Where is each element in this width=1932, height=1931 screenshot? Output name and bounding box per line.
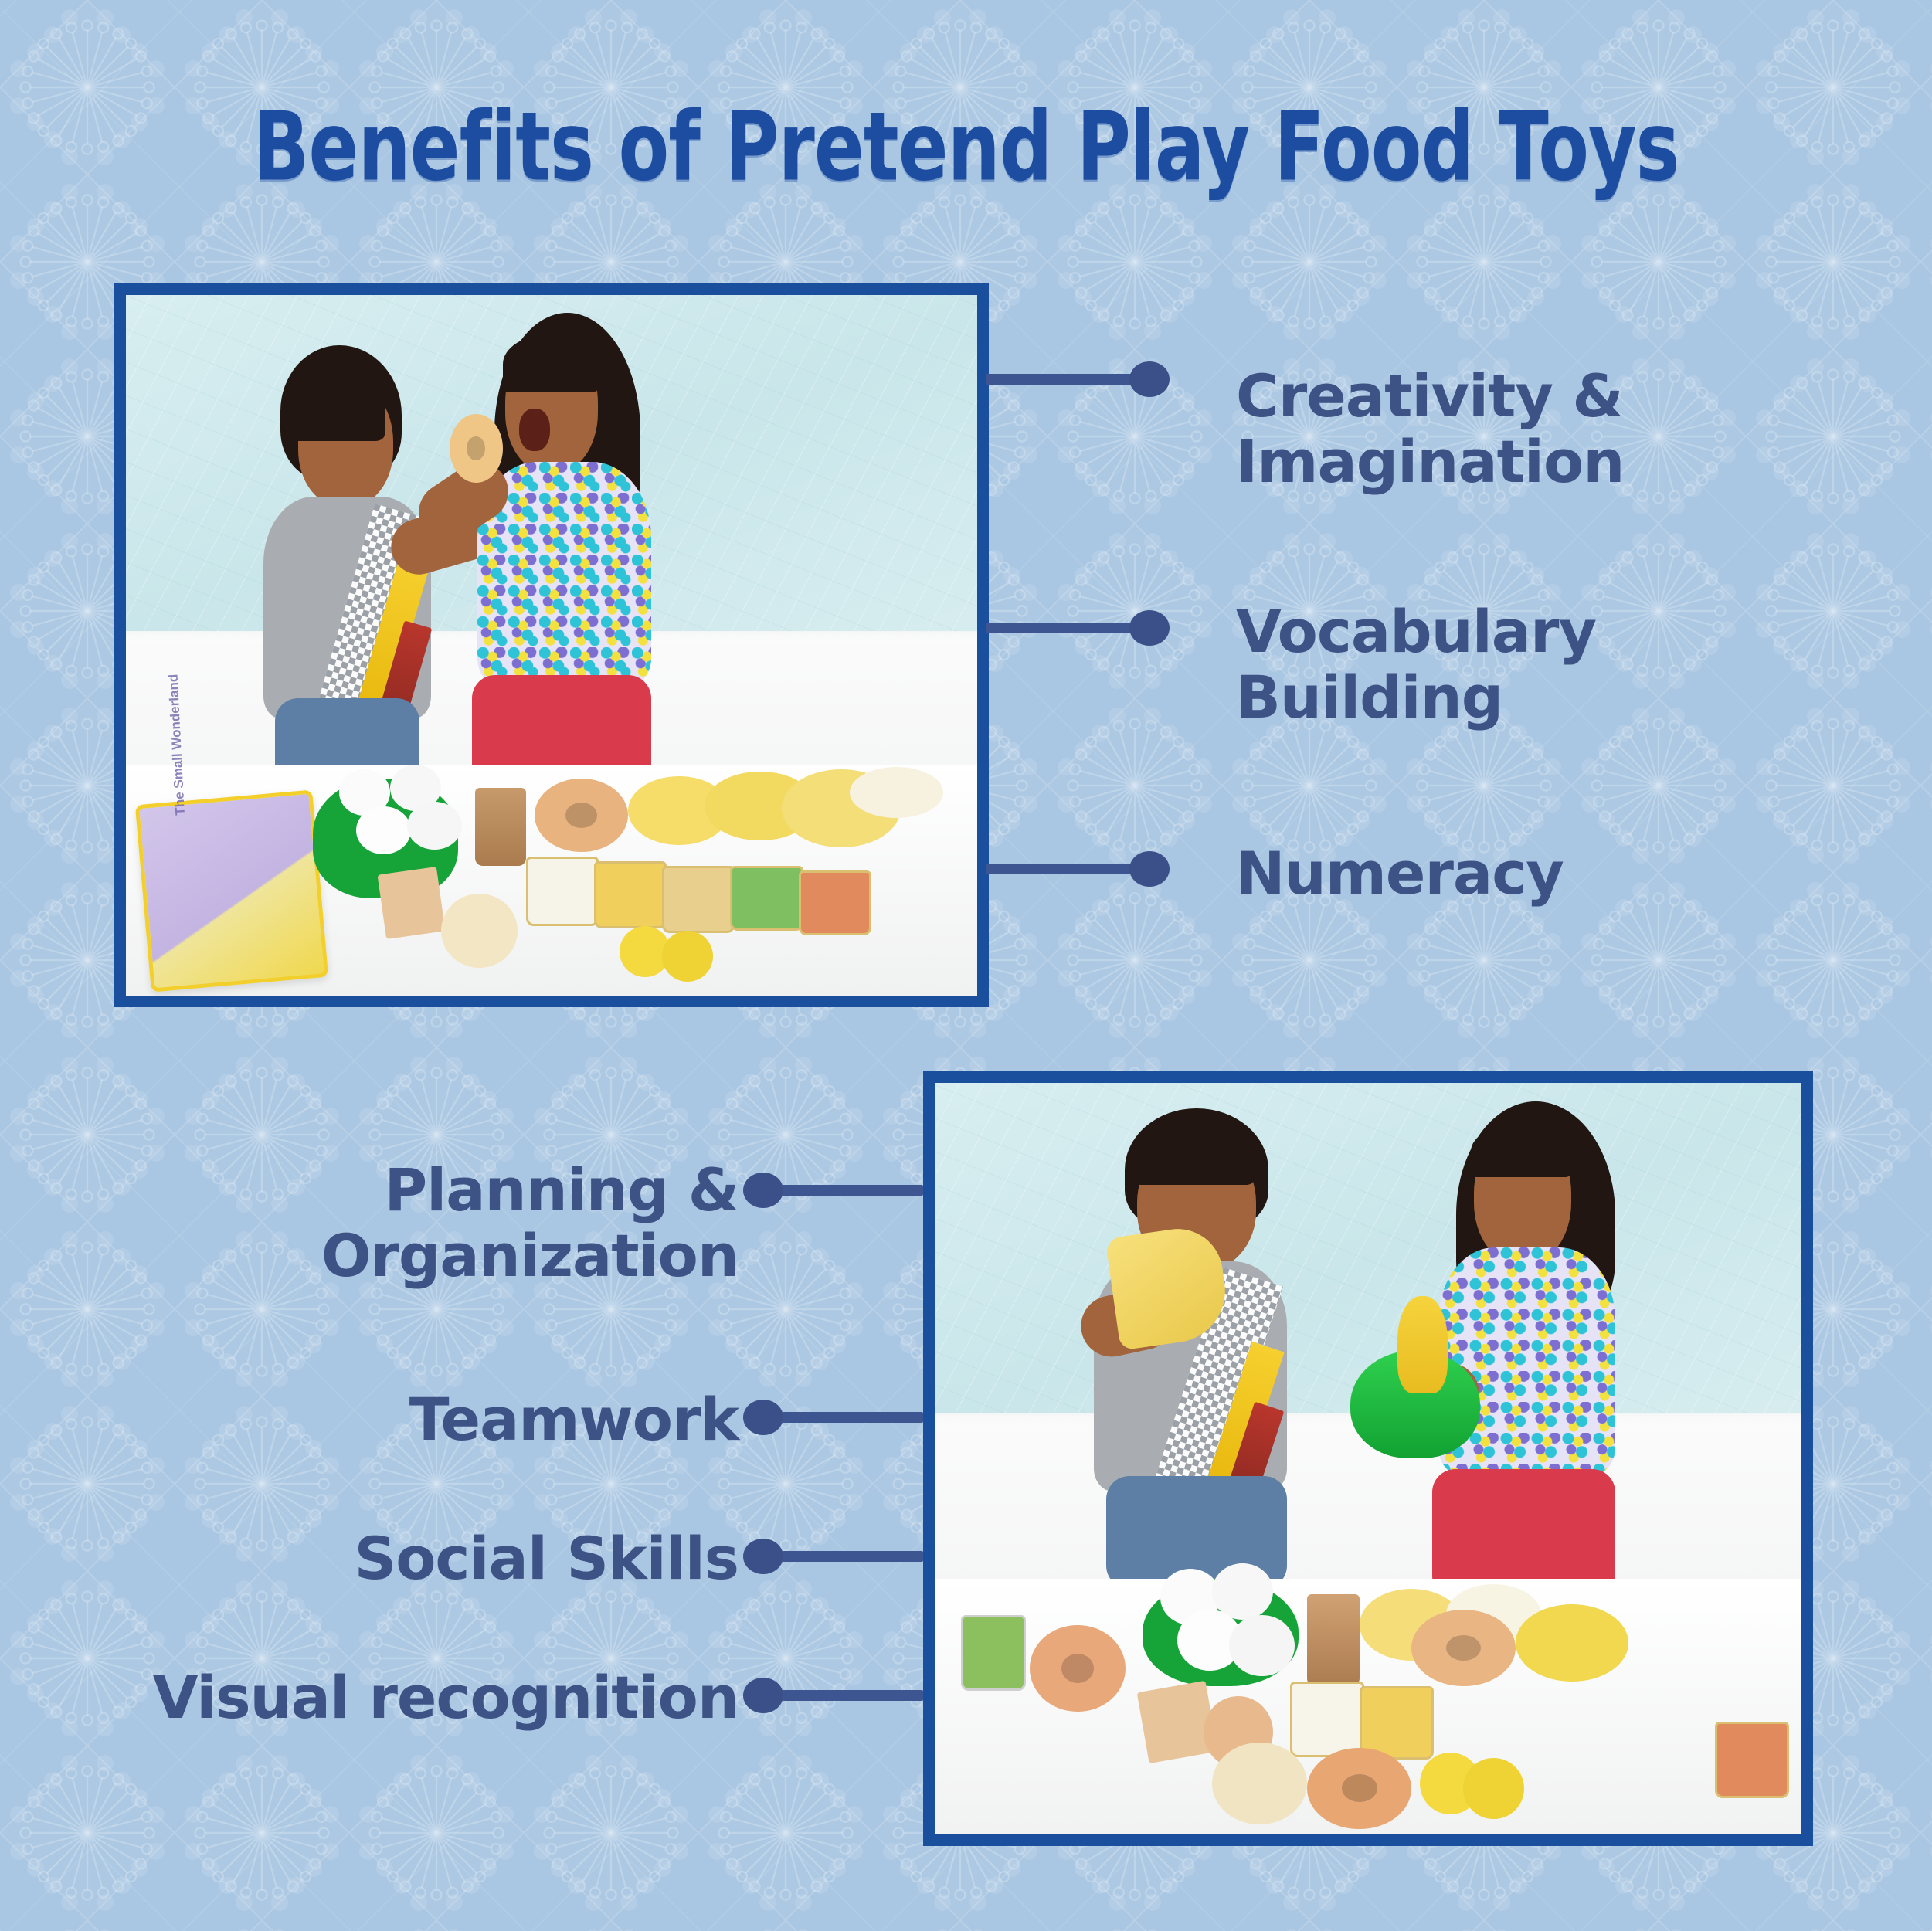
boy-hair-fringe — [1134, 1134, 1252, 1185]
toy-appam — [850, 767, 943, 818]
connector-dot-social-skills — [743, 1539, 783, 1574]
toy-package-pouch — [135, 789, 329, 993]
toy-banana-slice — [662, 931, 713, 982]
toy-chutney-cup-orange — [1715, 1722, 1789, 1798]
connector-dot-planning — [743, 1173, 783, 1208]
connector-dot-numeracy — [1129, 851, 1170, 887]
benefit-label-social-skills: Social Skills — [354, 1525, 739, 1591]
benefit-label-creativity: Creativity & Imagination — [1236, 363, 1624, 494]
toy-chutney-cup-yellow — [594, 861, 667, 928]
benefit-label-teamwork: Teamwork — [409, 1386, 739, 1452]
connector-line-visual-recognition — [783, 1690, 923, 1701]
photo-bottom-scene — [935, 1083, 1801, 1834]
toy-chutney-cup-green — [961, 1615, 1027, 1692]
toy-chutney-cup-green — [730, 866, 803, 931]
connector-line-planning — [783, 1185, 923, 1196]
connector-line-creativity — [986, 374, 1149, 385]
connector-dot-creativity — [1129, 361, 1170, 397]
toy-cupcake-yellow — [1397, 1296, 1448, 1393]
poster-canvas: Benefits of Pretend Play Food Toys — [0, 0, 1932, 1931]
toy-vada — [535, 779, 628, 853]
photo-bottom — [923, 1071, 1813, 1846]
connector-line-numeracy — [986, 864, 1149, 874]
toy-chutney-cup-white — [1290, 1682, 1364, 1758]
connector-line-social-skills — [783, 1551, 923, 1562]
boy-figure — [1056, 1098, 1368, 1609]
toy-vada — [1307, 1748, 1411, 1830]
toy-sambar-jar — [1307, 1594, 1359, 1686]
toy-sambar-jar — [475, 788, 526, 867]
connector-line-teamwork — [783, 1412, 923, 1423]
toy-dosa — [1516, 1604, 1628, 1681]
benefit-label-vocabulary: Vocabulary Building — [1236, 599, 1596, 730]
girl-hair-front — [503, 334, 599, 392]
toy-idli — [356, 806, 412, 855]
toy-chutney-cup-orange — [799, 870, 871, 935]
girl-figure — [1385, 1091, 1679, 1632]
toy-food-spread-bottom — [935, 1579, 1801, 1834]
girl-hair-front — [1471, 1123, 1571, 1177]
photo-top-scene: The Small Wonderland — [126, 295, 977, 996]
toy-chutney-cup-white — [526, 857, 599, 926]
toy-vada — [1030, 1625, 1125, 1712]
photo-top: The Small Wonderland — [114, 283, 989, 1007]
toy-package-label: The Small Wonderland — [167, 700, 265, 815]
toy-idli — [407, 802, 463, 850]
page-title: Benefits of Pretend Play Food Toys — [77, 91, 1855, 202]
toy-food-spread-top: The Small Wonderland — [126, 765, 977, 996]
toy-biscuit-square — [377, 867, 445, 939]
connector-dot-teamwork — [743, 1400, 783, 1435]
girl-open-mouth — [519, 409, 550, 451]
toy-vada — [1411, 1610, 1516, 1686]
toy-donut-held — [450, 414, 503, 484]
connector-dot-visual-recognition — [743, 1678, 783, 1713]
toy-biscuit-round — [441, 894, 518, 968]
connector-line-vocabulary — [986, 623, 1149, 633]
toy-banana-slice — [1463, 1758, 1524, 1819]
toy-idli — [1229, 1615, 1294, 1676]
benefit-label-visual-recognition: Visual recognition — [153, 1665, 739, 1730]
toy-biscuit-sandwich — [1212, 1743, 1307, 1824]
benefit-label-numeracy: Numeracy — [1236, 840, 1564, 906]
girl-figure — [433, 302, 714, 834]
toy-chutney-cup-tan — [662, 866, 735, 933]
connector-dot-vocabulary — [1129, 610, 1170, 646]
benefit-label-planning: Planning & Organization — [321, 1157, 739, 1288]
